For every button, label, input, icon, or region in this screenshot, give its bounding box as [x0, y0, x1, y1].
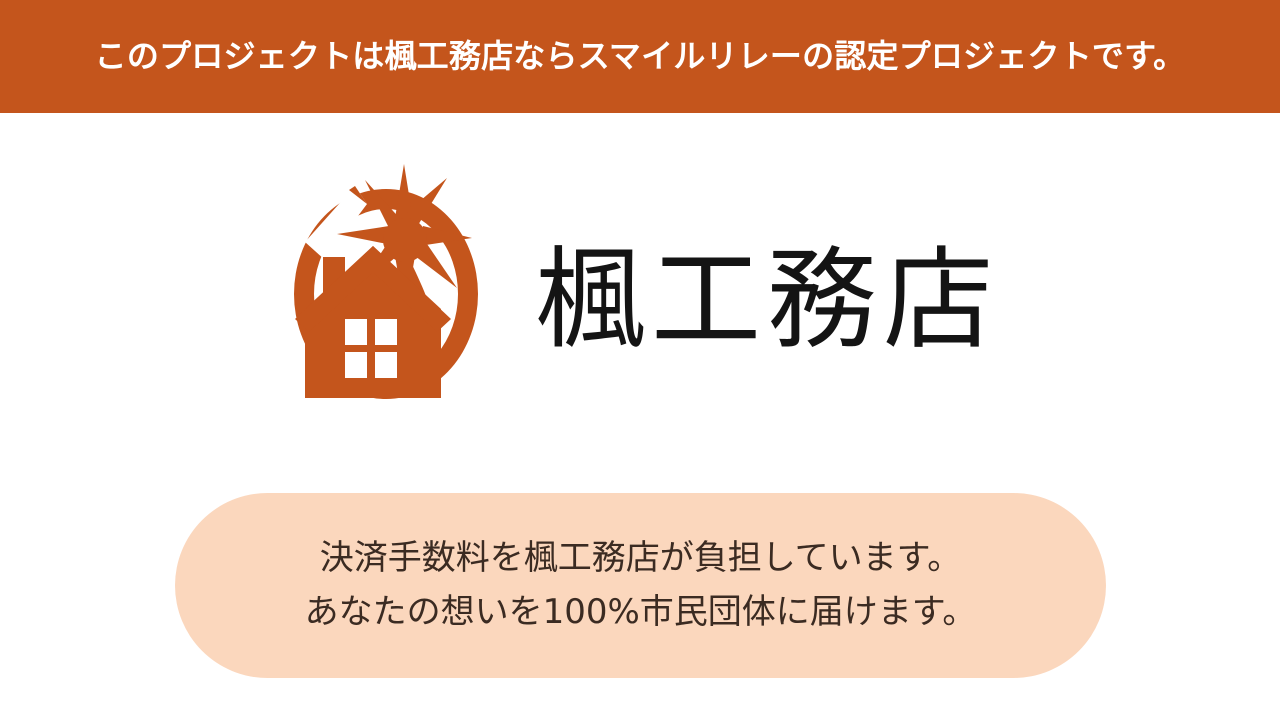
window-pane — [345, 352, 367, 378]
maple-house-circle-icon — [281, 164, 491, 424]
logo-area: 楓工務店 — [0, 113, 1280, 483]
logo-wordmark: 楓工務店 — [535, 245, 999, 355]
logo-lockup: 楓工務店 — [281, 164, 999, 424]
window-pane — [375, 352, 397, 378]
window-pane — [375, 319, 397, 345]
callout-line-2: あなたの想いを100%市民団体に届けます。 — [305, 593, 977, 632]
fee-coverage-callout: 決済手数料を楓工務店が負担しています。 あなたの想いを100%市民団体に届けます… — [175, 493, 1106, 678]
callout-line-1: 決済手数料を楓工務店が負担しています。 — [320, 539, 962, 578]
banner-message: このプロジェクトは楓工務店ならスマイルリレーの認定プロジェクトです。 — [95, 39, 1186, 74]
top-banner: このプロジェクトは楓工務店ならスマイルリレーの認定プロジェクトです。 — [0, 0, 1280, 113]
ring-gap — [305, 186, 367, 260]
logo-mark — [281, 164, 491, 424]
window-pane — [345, 319, 367, 345]
house-icon — [295, 246, 451, 398]
